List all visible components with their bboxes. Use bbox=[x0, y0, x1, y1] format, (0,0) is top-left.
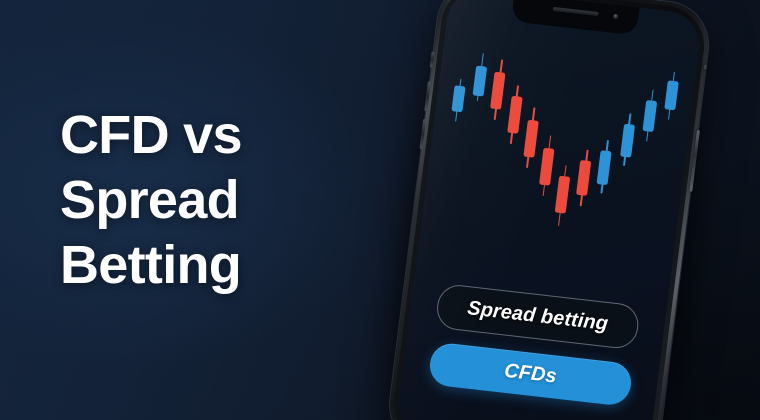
candlestick-body bbox=[555, 176, 571, 214]
candlestick-body bbox=[576, 160, 591, 196]
candlestick bbox=[663, 71, 680, 120]
candlestick-body bbox=[664, 80, 679, 111]
candlestick-body bbox=[642, 100, 657, 132]
candlestick-body bbox=[539, 148, 555, 186]
speaker-grille-icon bbox=[553, 7, 599, 16]
phone-notch bbox=[511, 0, 640, 35]
candlestick bbox=[553, 165, 571, 227]
phone-mockup: Spread betting CFDs bbox=[385, 0, 713, 420]
candlestick-body bbox=[490, 72, 506, 110]
candlestick bbox=[619, 113, 637, 167]
phone-frame: Spread betting CFDs bbox=[385, 0, 713, 420]
candlestick-body bbox=[451, 86, 465, 113]
candlestick bbox=[489, 59, 507, 121]
candlestick-chart bbox=[437, 42, 680, 251]
option-cfds[interactable]: CFDs bbox=[427, 341, 633, 407]
candlestick bbox=[641, 89, 658, 142]
candlestick bbox=[450, 78, 466, 121]
candlestick bbox=[596, 140, 614, 194]
candlestick-body bbox=[507, 96, 523, 134]
candlestick bbox=[522, 107, 540, 169]
candlestick bbox=[575, 149, 593, 207]
option-list: Spread betting CFDs bbox=[427, 283, 640, 407]
candlestick bbox=[538, 135, 556, 197]
candlestick bbox=[505, 85, 523, 145]
mute-switch[interactable] bbox=[430, 51, 435, 67]
option-spread-betting[interactable]: Spread betting bbox=[435, 283, 641, 351]
front-camera-icon bbox=[613, 14, 619, 20]
candlestick-body bbox=[620, 124, 635, 158]
candlestick-body bbox=[597, 151, 612, 185]
candlestick-body bbox=[523, 120, 539, 158]
poster-canvas: CFD vs Spread Betting Spread betting bbox=[0, 0, 760, 420]
candlestick-body bbox=[473, 66, 488, 97]
option-spread-betting-label: Spread betting bbox=[466, 297, 609, 336]
page-title: CFD vs Spread Betting bbox=[60, 103, 390, 297]
option-cfds-label: CFDs bbox=[503, 360, 558, 389]
candlestick bbox=[472, 53, 489, 102]
phone-screen: Spread betting CFDs bbox=[395, 0, 703, 420]
